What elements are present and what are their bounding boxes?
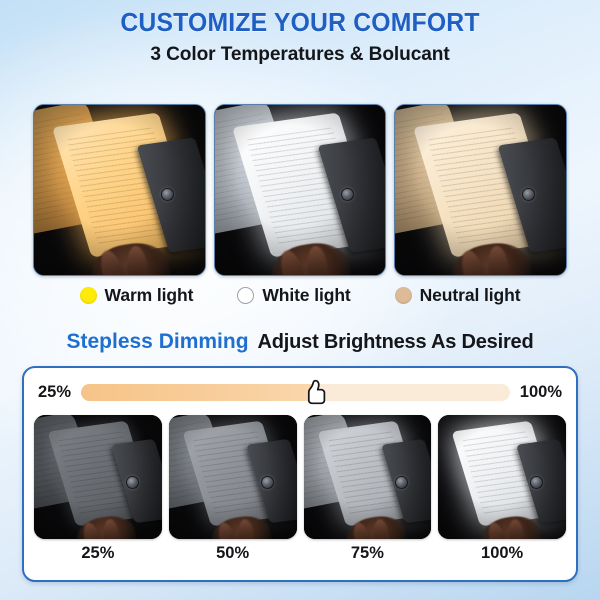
color-swatch-warm-icon (80, 287, 97, 304)
hand-holding-lamp (449, 239, 535, 276)
book-page-right (452, 420, 560, 526)
page-text-lines (65, 127, 184, 245)
page-text-lines (462, 431, 551, 517)
brightness-photo-75[interactable] (304, 415, 432, 539)
brightness-photo-row (34, 415, 566, 539)
brightness-label-50: 50% (169, 544, 297, 563)
color-temperature-photo-row (33, 104, 567, 276)
color-swatch-neutral-icon (395, 287, 412, 304)
page-title: CUSTOMIZE YOUR COMFORT (9, 9, 591, 38)
slider-fill (81, 384, 317, 401)
book-page-left (33, 104, 125, 238)
book-lamp-photo-50 (169, 415, 297, 539)
slider-thumb-handle[interactable] (306, 379, 328, 405)
book-page-left (214, 104, 306, 238)
color-photo-white[interactable] (214, 104, 387, 276)
legend-label-warm: Warm light (105, 285, 194, 306)
book-page-left (34, 415, 102, 512)
brightness-slider-row: 25% 100% (38, 377, 562, 407)
lamp-spine (516, 439, 566, 523)
book-page-right (51, 112, 197, 257)
book-page-left (394, 104, 486, 238)
page-text-lines (426, 127, 545, 245)
page-subtitle: 3 Color Temperatures & Bolucant (6, 43, 594, 66)
dimming-heading-blue: Stepless Dimming (66, 330, 248, 353)
hand-holding-lamp (268, 239, 354, 276)
brightness-label-row: 25% 50% 75% 100% (34, 544, 566, 563)
page-text-lines (327, 431, 416, 517)
legend-label-white: White light (262, 285, 350, 306)
hand-holding-lamp (479, 512, 544, 539)
brightness-label-25: 25% (34, 544, 162, 563)
page-text-lines (192, 431, 281, 517)
hand-holding-lamp (74, 512, 139, 539)
legend-item-white[interactable]: White light (237, 285, 350, 306)
hand-holding-lamp (344, 512, 409, 539)
brightness-slider[interactable] (81, 384, 510, 401)
hand-holding-lamp (88, 239, 174, 276)
lamp-spine (246, 439, 296, 523)
book-lamp-photo-white (215, 105, 386, 275)
page-text-lines (169, 421, 229, 503)
lamp-glow (228, 104, 368, 214)
book-page-left (169, 415, 237, 512)
power-button-icon (161, 188, 174, 201)
color-photo-warm[interactable] (33, 104, 206, 276)
power-button-icon (126, 476, 139, 489)
lamp-spine (317, 137, 386, 252)
power-button-icon (395, 476, 408, 489)
legend-item-neutral[interactable]: Neutral light (395, 285, 521, 306)
brightness-photo-50[interactable] (169, 415, 297, 539)
power-button-icon (341, 188, 354, 201)
lamp-spine (137, 137, 206, 252)
book-lamp-photo-75 (304, 415, 432, 539)
page-text-lines (438, 421, 498, 503)
lamp-spine (111, 439, 161, 523)
dimming-heading-black: Adjust Brightness As Desired (258, 331, 534, 353)
page-text-lines (58, 431, 147, 517)
hand-holding-lamp (209, 512, 274, 539)
lamp-glow (44, 415, 149, 494)
book-page-right (47, 420, 155, 526)
book-page-right (232, 112, 378, 257)
book-page-right (182, 420, 290, 526)
page-text-lines (394, 114, 476, 226)
book-page-right (412, 112, 558, 257)
page-text-lines (214, 114, 296, 226)
power-button-icon (261, 476, 274, 489)
legend-item-warm[interactable]: Warm light (80, 285, 194, 306)
lamp-glow (314, 415, 419, 494)
book-page-right (317, 420, 425, 526)
header: CUSTOMIZE YOUR COMFORT 3 Color Temperatu… (0, 0, 600, 66)
book-lamp-photo-25 (34, 415, 162, 539)
power-button-icon (530, 476, 543, 489)
slider-max-label: 100% (520, 383, 562, 402)
brightness-label-100: 100% (438, 544, 566, 563)
book-page-left (304, 415, 372, 512)
legend-label-neutral: Neutral light (420, 285, 521, 306)
page-text-lines (34, 421, 94, 503)
page-text-lines (245, 127, 364, 245)
lamp-glow (48, 104, 188, 214)
dimming-panel: 25% 100% (22, 366, 578, 582)
slider-min-label: 25% (38, 383, 71, 402)
lamp-spine (498, 137, 567, 252)
color-photo-neutral[interactable] (394, 104, 567, 276)
brightness-label-75: 75% (304, 544, 432, 563)
brightness-photo-100[interactable] (438, 415, 566, 539)
book-lamp-photo-warm (34, 105, 205, 275)
brightness-photo-25[interactable] (34, 415, 162, 539)
power-button-icon (522, 188, 535, 201)
book-lamp-photo-100 (438, 415, 566, 539)
lamp-spine (381, 439, 431, 523)
book-lamp-photo-neutral (395, 105, 566, 275)
page-text-lines (33, 114, 115, 226)
page-text-lines (304, 421, 364, 503)
dimming-heading: Stepless DimmingAdjust Brightness As Des… (0, 330, 600, 354)
lamp-glow (179, 415, 284, 494)
lamp-glow (448, 415, 553, 494)
color-swatch-white-icon (237, 287, 254, 304)
lamp-glow (409, 104, 549, 214)
thumbs-up-icon (306, 379, 328, 405)
color-temperature-legend: Warm light White light Neutral light (0, 285, 600, 306)
book-page-left (438, 415, 506, 512)
